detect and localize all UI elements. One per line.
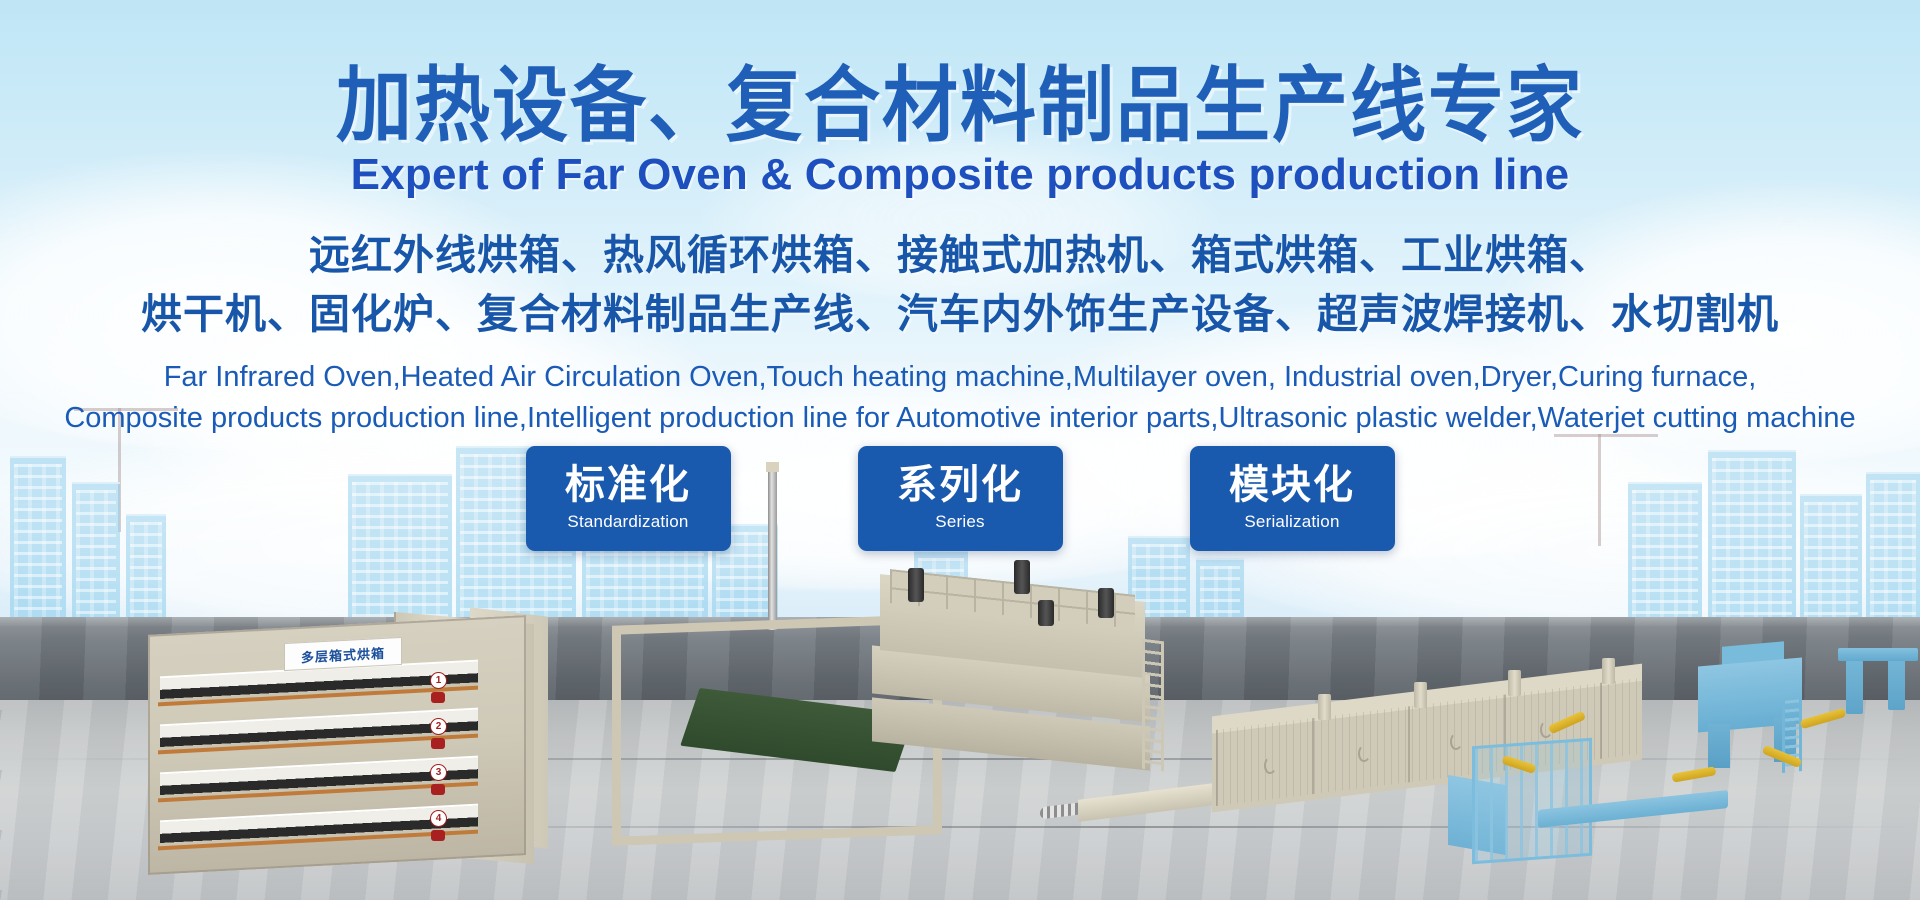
badge-series[interactable]: 系列化 Series xyxy=(858,446,1063,551)
oven-indicator-3: 3 xyxy=(430,764,447,795)
blue-press-leg xyxy=(1708,724,1730,768)
oven-indicator-4: 4 xyxy=(430,810,447,841)
tunnel-exhaust-stack xyxy=(1318,694,1331,720)
badge-label-cn: 模块化 xyxy=(1229,465,1355,506)
robot-arm xyxy=(1800,708,1847,729)
badge-standardization[interactable]: 标准化 Standardization xyxy=(526,446,731,551)
badge-label-cn: 系列化 xyxy=(897,465,1023,506)
blue-gantry-leg xyxy=(1846,660,1863,714)
badge-label-en: Standardization xyxy=(567,506,688,532)
press-hydraulic-post xyxy=(908,568,924,602)
press-hydraulic-post xyxy=(1014,560,1030,594)
blue-platform-frame xyxy=(1472,738,1592,864)
badge-label-cn: 标准化 xyxy=(565,465,691,506)
oven-indicator-1: 1 xyxy=(430,672,447,703)
tunnel-exhaust-stack xyxy=(1508,670,1521,696)
badge-serialization[interactable]: 模块化 Serialization xyxy=(1190,446,1395,551)
feature-badge-row: 标准化 Standardization 系列化 Series 模块化 Seria… xyxy=(0,446,1920,551)
oven-indicator-2: 2 xyxy=(430,718,447,749)
press-hydraulic-post xyxy=(1038,600,1054,626)
blue-gantry-rail xyxy=(1838,648,1918,661)
press-access-ladder xyxy=(1142,639,1164,772)
badge-label-en: Series xyxy=(935,506,984,532)
robot-arm xyxy=(1672,766,1717,783)
tunnel-exhaust-stack xyxy=(1602,658,1615,684)
hero-banner: 多层箱式烘箱 1 2 3 4 xyxy=(0,0,1920,900)
press-hydraulic-post xyxy=(1098,588,1114,618)
blue-gantry-leg xyxy=(1888,656,1905,710)
tunnel-exhaust-stack xyxy=(1414,682,1427,708)
badge-label-en: Serialization xyxy=(1244,506,1339,532)
